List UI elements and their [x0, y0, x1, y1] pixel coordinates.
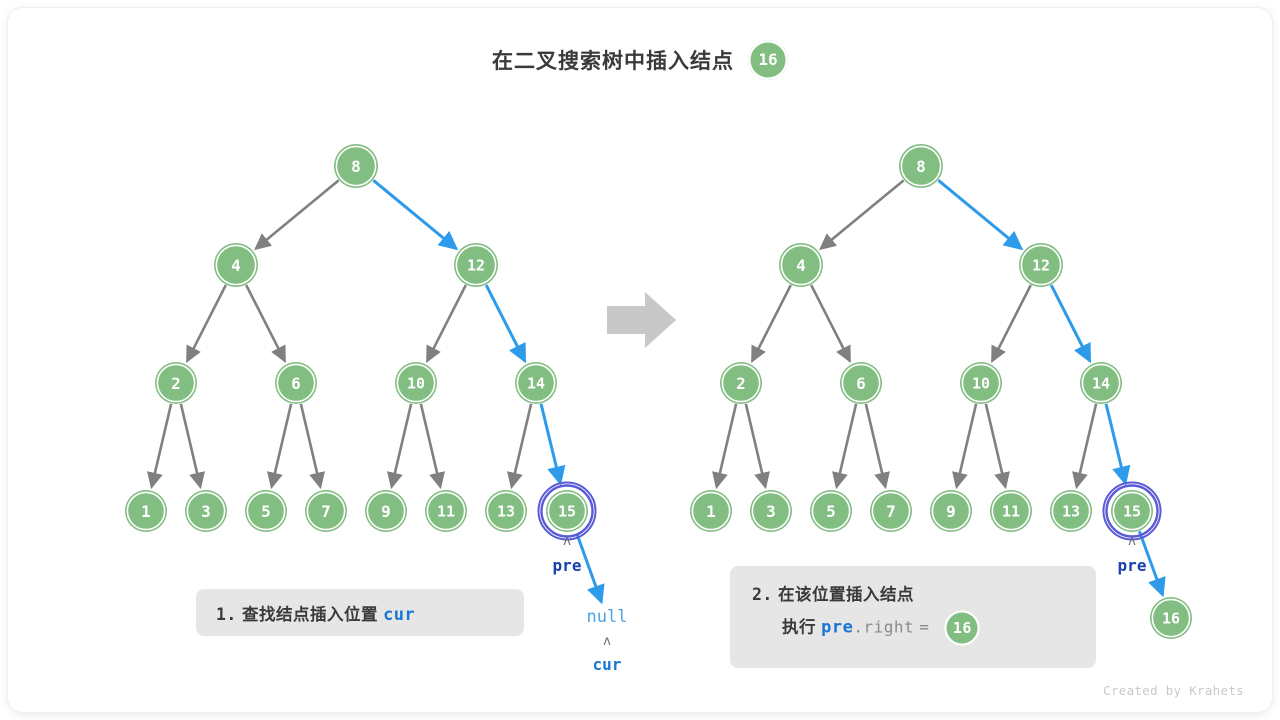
tree-node-label: 6 [856, 374, 866, 393]
tree-node[interactable]: 15 [539, 483, 596, 540]
tree-node[interactable]: 9 [930, 490, 972, 532]
tree-node[interactable]: 4 [214, 243, 258, 287]
tree-node-label: 7 [886, 502, 896, 521]
null-label: null [587, 607, 628, 627]
tree-node-label: 4 [796, 256, 806, 275]
tree-edge [938, 180, 1021, 248]
tree-node-label: 3 [201, 502, 211, 521]
tree-edge [986, 404, 1006, 487]
tree-edge [272, 404, 292, 487]
tree-edge [512, 404, 532, 487]
tree-node-label: 11 [437, 503, 455, 521]
tree-node-label: 4 [231, 256, 241, 275]
tree-edge [866, 404, 886, 487]
separator-arrow-icon [607, 292, 676, 348]
caption-step-1-line: 1. 查找结点插入位置 cur [216, 600, 504, 630]
tree-edge [811, 285, 850, 361]
tree-node-label: 13 [1062, 503, 1080, 521]
tree-node[interactable]: 11 [990, 490, 1032, 532]
tree-edge [541, 404, 560, 483]
tree-node-label: 9 [381, 502, 391, 521]
tree-node-label: 1 [141, 502, 151, 521]
tree-edge [957, 404, 977, 487]
tree-node[interactable]: 6 [840, 362, 882, 404]
tree-edge [837, 404, 857, 487]
caption-step-2-prop: .right [853, 617, 914, 636]
tree-node-label: 15 [1123, 503, 1141, 521]
tree-edge [421, 404, 441, 487]
tree-node-label: 16 [1162, 610, 1180, 628]
diagram-canvas: 在二叉搜索树中插入结点16 84122610141357911131584122… [0, 0, 1280, 720]
tree-node[interactable]: 3 [185, 490, 227, 532]
tree-node[interactable]: 7 [305, 490, 347, 532]
tree-node[interactable]: 13 [1050, 490, 1092, 532]
tree-edge [1106, 404, 1125, 483]
caption-step-2-number: 2. [752, 585, 773, 604]
tree-node[interactable]: 6 [275, 362, 317, 404]
pointer-label-pre: pre [1118, 556, 1147, 575]
pointer-caret-icon: ʌ [603, 634, 611, 649]
tree-edge [717, 404, 737, 487]
tree-edge [256, 180, 339, 248]
tree-node[interactable]: 10 [395, 362, 437, 404]
tree-node-label: 2 [736, 374, 746, 393]
tree-node-label: 7 [321, 502, 331, 521]
tree-edge [373, 180, 456, 248]
caption-step-2-text: 在该位置插入结点 [778, 586, 914, 604]
tree-node[interactable]: 14 [1080, 362, 1122, 404]
tree-node[interactable]: 2 [155, 362, 197, 404]
tree-edge [187, 285, 226, 361]
tree-edge [992, 285, 1031, 361]
tree-node-label: 1 [706, 502, 716, 521]
tree-node[interactable]: 2 [720, 362, 762, 404]
tree-node-label: 15 [558, 503, 576, 521]
tree-node[interactable]: 15 [1104, 483, 1161, 540]
caption-step-2-line1: 2. 在该位置插入结点 [752, 580, 1074, 610]
caption-step-1-text: 查找结点插入位置 [242, 606, 378, 624]
tree-edge [392, 404, 412, 487]
tree-node-label: 12 [467, 257, 485, 275]
pointer-caret-icon: ʌ [1128, 534, 1136, 549]
tree-node-label: 8 [351, 157, 361, 176]
tree-edge [152, 404, 172, 487]
tree-node-label: 2 [171, 374, 181, 393]
tree-node[interactable]: 5 [810, 490, 852, 532]
tree-edge [246, 285, 285, 361]
tree-edge [181, 404, 201, 487]
caption-step-1-number: 1. [216, 605, 237, 624]
tree-edge [752, 285, 791, 361]
caption-step-2-var: pre [821, 617, 853, 637]
caption-step-1: 1. 查找结点插入位置 cur [196, 589, 524, 636]
tree-node[interactable]: 9 [365, 490, 407, 532]
tree-node-label: 12 [1032, 257, 1050, 275]
tree-node-label: 10 [407, 375, 425, 393]
tree-node-label: 11 [1002, 503, 1020, 521]
tree-node[interactable]: 3 [750, 490, 792, 532]
tree-node-label: 14 [1092, 375, 1110, 393]
tree-edge [746, 404, 766, 487]
tree-edge [1077, 404, 1097, 487]
tree-node[interactable]: 13 [485, 490, 527, 532]
tree-node-label: 10 [972, 375, 990, 393]
pointer-caret-icon: ʌ [563, 534, 571, 549]
tree-node[interactable]: 14 [515, 362, 557, 404]
tree-node-label: 3 [766, 502, 776, 521]
caption-step-2-equals: = [919, 617, 929, 636]
tree-node-label: 5 [261, 502, 271, 521]
tree-node[interactable]: 8 [334, 144, 378, 188]
tree-node[interactable]: 1 [690, 490, 732, 532]
tree-node[interactable]: 11 [425, 490, 467, 532]
tree-edge [486, 285, 525, 361]
tree-node[interactable]: 1 [125, 490, 167, 532]
tree-edge [821, 180, 904, 248]
caption-step-2: 2. 在该位置插入结点 执行 pre.right = 16 [730, 566, 1096, 668]
tree-edge [427, 285, 466, 361]
tree-node[interactable]: 12 [1019, 243, 1063, 287]
tree-node[interactable]: 12 [454, 243, 498, 287]
tree-node[interactable]: 8 [899, 144, 943, 188]
caption-step-2-badge: 16 [944, 610, 980, 646]
tree-node-label: 5 [826, 502, 836, 521]
tree-node[interactable]: 4 [779, 243, 823, 287]
tree-node[interactable]: 7 [870, 490, 912, 532]
tree-edge [301, 404, 321, 487]
tree-node[interactable]: 5 [245, 490, 287, 532]
tree-edge [1051, 285, 1090, 361]
tree-node-label: 9 [946, 502, 956, 521]
tree-node-label: 8 [916, 157, 926, 176]
pointer-label-pre: pre [553, 556, 582, 575]
pointer-label-cur: cur [593, 655, 622, 674]
tree-node-label: 13 [497, 503, 515, 521]
tree-node[interactable]: 10 [960, 362, 1002, 404]
tree-node-label: 6 [291, 374, 301, 393]
caption-step-1-variable: cur [383, 605, 415, 625]
caption-step-2-line2: 执行 pre.right = 16 [752, 610, 1074, 646]
nodes-layer: 8412261014135791113158412261014135791113… [125, 144, 1192, 639]
caption-step-2-prefix: 执行 [782, 618, 816, 636]
tree-node[interactable]: 16 [1150, 597, 1192, 639]
credit-text: Created by Krahets [1103, 683, 1244, 698]
tree-node-label: 14 [527, 375, 545, 393]
